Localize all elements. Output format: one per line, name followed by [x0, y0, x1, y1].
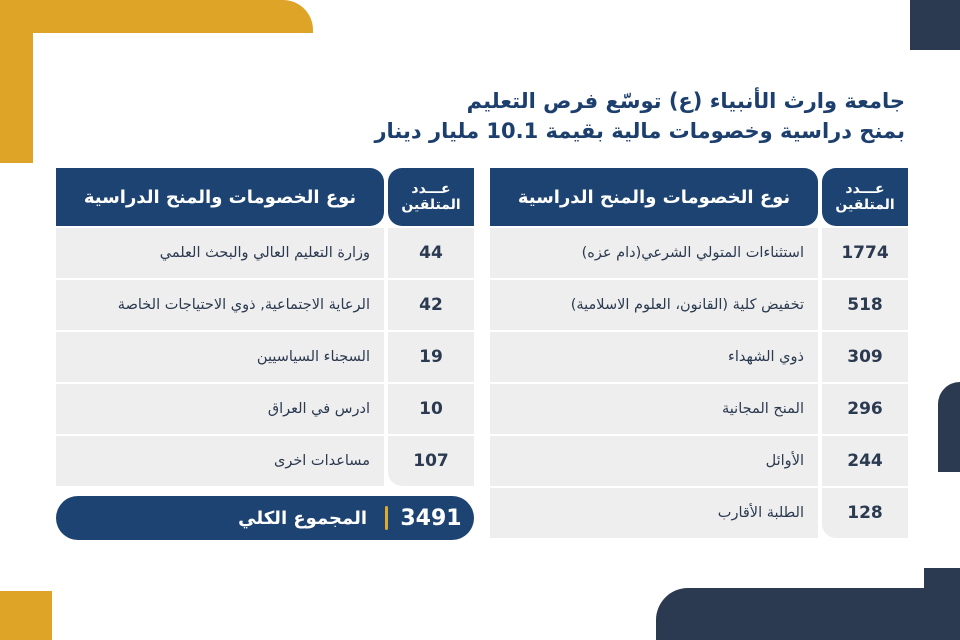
row-discount-type: ادرس في العراق	[56, 384, 384, 434]
column-header-count-line-2: المتلقين	[835, 197, 894, 213]
row-discount-type: وزارة التعليم العالي والبحث العلمي	[56, 228, 384, 278]
column-header-discount-type: نوع الخصومات والمنح الدراسية	[490, 168, 818, 226]
decor-right-edge-tab	[938, 382, 960, 472]
table-header-row: عـــدد المتلقين نوع الخصومات والمنح الدر…	[56, 168, 474, 226]
decor-bottom-left-block	[0, 591, 52, 640]
row-recipient-count: 42	[388, 280, 474, 330]
page-title-line-1: جامعة وارث الأنبياء (ع) توسّع فرص التعلي…	[385, 86, 905, 116]
decor-top-left-vertical-bar	[0, 0, 33, 163]
row-discount-type: مساعدات اخرى	[56, 436, 384, 486]
decor-bottom-right-bar	[656, 588, 924, 640]
table-header-row: عـــدد المتلقين نوع الخصومات والمنح الدر…	[490, 168, 908, 226]
row-discount-type: استثناءات المتولي الشرعي(دام عزه)	[490, 228, 818, 278]
grand-total-value: 3491	[388, 506, 474, 531]
table-row: 296المنح المجانية	[490, 384, 908, 434]
row-discount-type: الرعاية الاجتماعية, ذوي الاحتياجات الخاص…	[56, 280, 384, 330]
decor-bottom-right-edge	[924, 568, 960, 640]
row-recipient-count: 19	[388, 332, 474, 382]
column-header-recipient-count: عـــدد المتلقين	[388, 168, 474, 226]
row-recipient-count: 296	[822, 384, 908, 434]
row-discount-type: تخفيض كلية (القانون، العلوم الاسلامية)	[490, 280, 818, 330]
grand-total-divider	[385, 506, 388, 530]
table-row: 309ذوي الشهداء	[490, 332, 908, 382]
table-row: 42الرعاية الاجتماعية, ذوي الاحتياجات الخ…	[56, 280, 474, 330]
table-body-left: 44وزارة التعليم العالي والبحث العلمي42ال…	[56, 228, 474, 486]
table-body-right: 1774استثناءات المتولي الشرعي(دام عزه)518…	[490, 228, 908, 538]
page-title-line-2: بمنح دراسية وخصومات مالية بقيمة 10.1 ملي…	[385, 116, 905, 146]
row-recipient-count: 10	[388, 384, 474, 434]
decor-top-left-horizontal-bar	[0, 0, 313, 33]
row-discount-type: الأوائل	[490, 436, 818, 486]
table-row: 19السجناء السياسيين	[56, 332, 474, 382]
row-recipient-count: 1774	[822, 228, 908, 278]
row-recipient-count: 244	[822, 436, 908, 486]
column-header-count-line-2: المتلقين	[401, 197, 460, 213]
table-row: 518تخفيض كلية (القانون، العلوم الاسلامية…	[490, 280, 908, 330]
row-recipient-count: 518	[822, 280, 908, 330]
row-discount-type: ذوي الشهداء	[490, 332, 818, 382]
table-row: 128الطلبة الأقارب	[490, 488, 908, 538]
table-row: 10ادرس في العراق	[56, 384, 474, 434]
column-header-recipient-count: عـــدد المتلقين	[822, 168, 908, 226]
page-title: جامعة وارث الأنبياء (ع) توسّع فرص التعلي…	[385, 86, 905, 147]
table-row: 107مساعدات اخرى	[56, 436, 474, 486]
column-header-discount-type: نوع الخصومات والمنح الدراسية	[56, 168, 384, 226]
column-header-count-line-1: عـــدد	[411, 181, 450, 197]
grand-total-label: المجموع الكلي	[56, 508, 385, 529]
table-row: 1774استثناءات المتولي الشرعي(دام عزه)	[490, 228, 908, 278]
row-recipient-count: 128	[822, 488, 908, 538]
decor-top-right-block	[910, 0, 960, 50]
row-discount-type: الطلبة الأقارب	[490, 488, 818, 538]
column-header-count-line-1: عـــدد	[845, 181, 884, 197]
scholarships-table-left: عـــدد المتلقين نوع الخصومات والمنح الدر…	[56, 168, 474, 540]
row-recipient-count: 107	[388, 436, 474, 486]
scholarships-table-right: عـــدد المتلقين نوع الخصومات والمنح الدر…	[490, 168, 908, 538]
row-discount-type: السجناء السياسيين	[56, 332, 384, 382]
row-recipient-count: 309	[822, 332, 908, 382]
table-row: 244الأوائل	[490, 436, 908, 486]
row-recipient-count: 44	[388, 228, 474, 278]
table-row: 44وزارة التعليم العالي والبحث العلمي	[56, 228, 474, 278]
grand-total-bar: 3491 المجموع الكلي	[56, 496, 474, 540]
row-discount-type: المنح المجانية	[490, 384, 818, 434]
